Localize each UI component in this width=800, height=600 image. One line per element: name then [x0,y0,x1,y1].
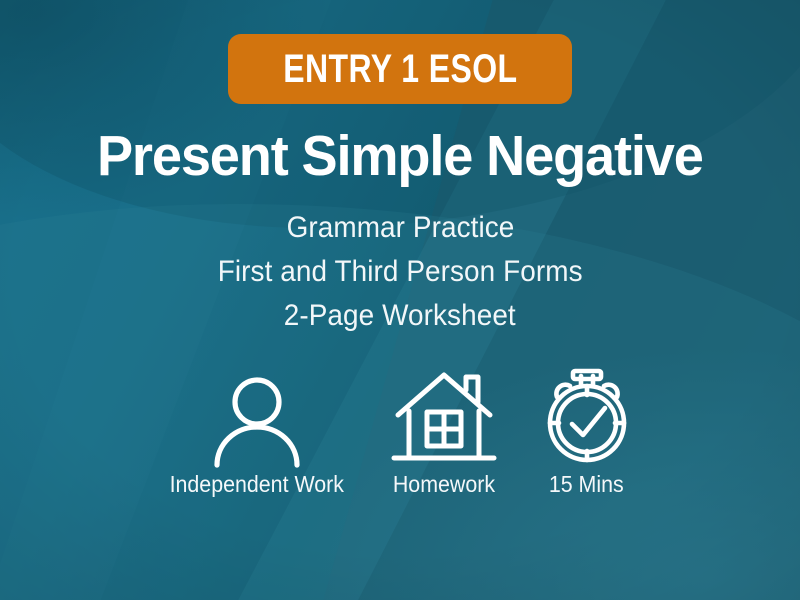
worksheet-cover: ENTRY 1 ESOL Present Simple Negative Gra… [0,0,800,600]
feature-duration: 15 Mins [537,369,637,499]
cover-content: ENTRY 1 ESOL Present Simple Negative Gra… [0,0,800,600]
feature-label-homework: Homework [393,471,495,499]
feature-label-duration: 15 Mins [549,471,624,499]
feature-independent-work: Independent Work [163,369,351,499]
subtitle-line-3: 2-Page Worksheet [284,296,516,336]
level-badge: ENTRY 1 ESOL [228,34,573,104]
level-badge-label: ENTRY 1 ESOL [283,49,517,89]
subtitle-line-2: First and Third Person Forms [218,252,583,292]
subtitle-block: Grammar Practice First and Third Person … [204,208,596,335]
page-title: Present Simple Negative [97,126,703,186]
feature-homework: Homework [389,369,499,499]
feature-row: Independent Work [0,369,800,499]
subtitle-line-1: Grammar Practice [286,208,514,248]
house-icon [392,369,496,465]
person-icon [209,369,305,465]
feature-label-independent-work: Independent Work [170,471,344,499]
stopwatch-icon [537,369,637,465]
